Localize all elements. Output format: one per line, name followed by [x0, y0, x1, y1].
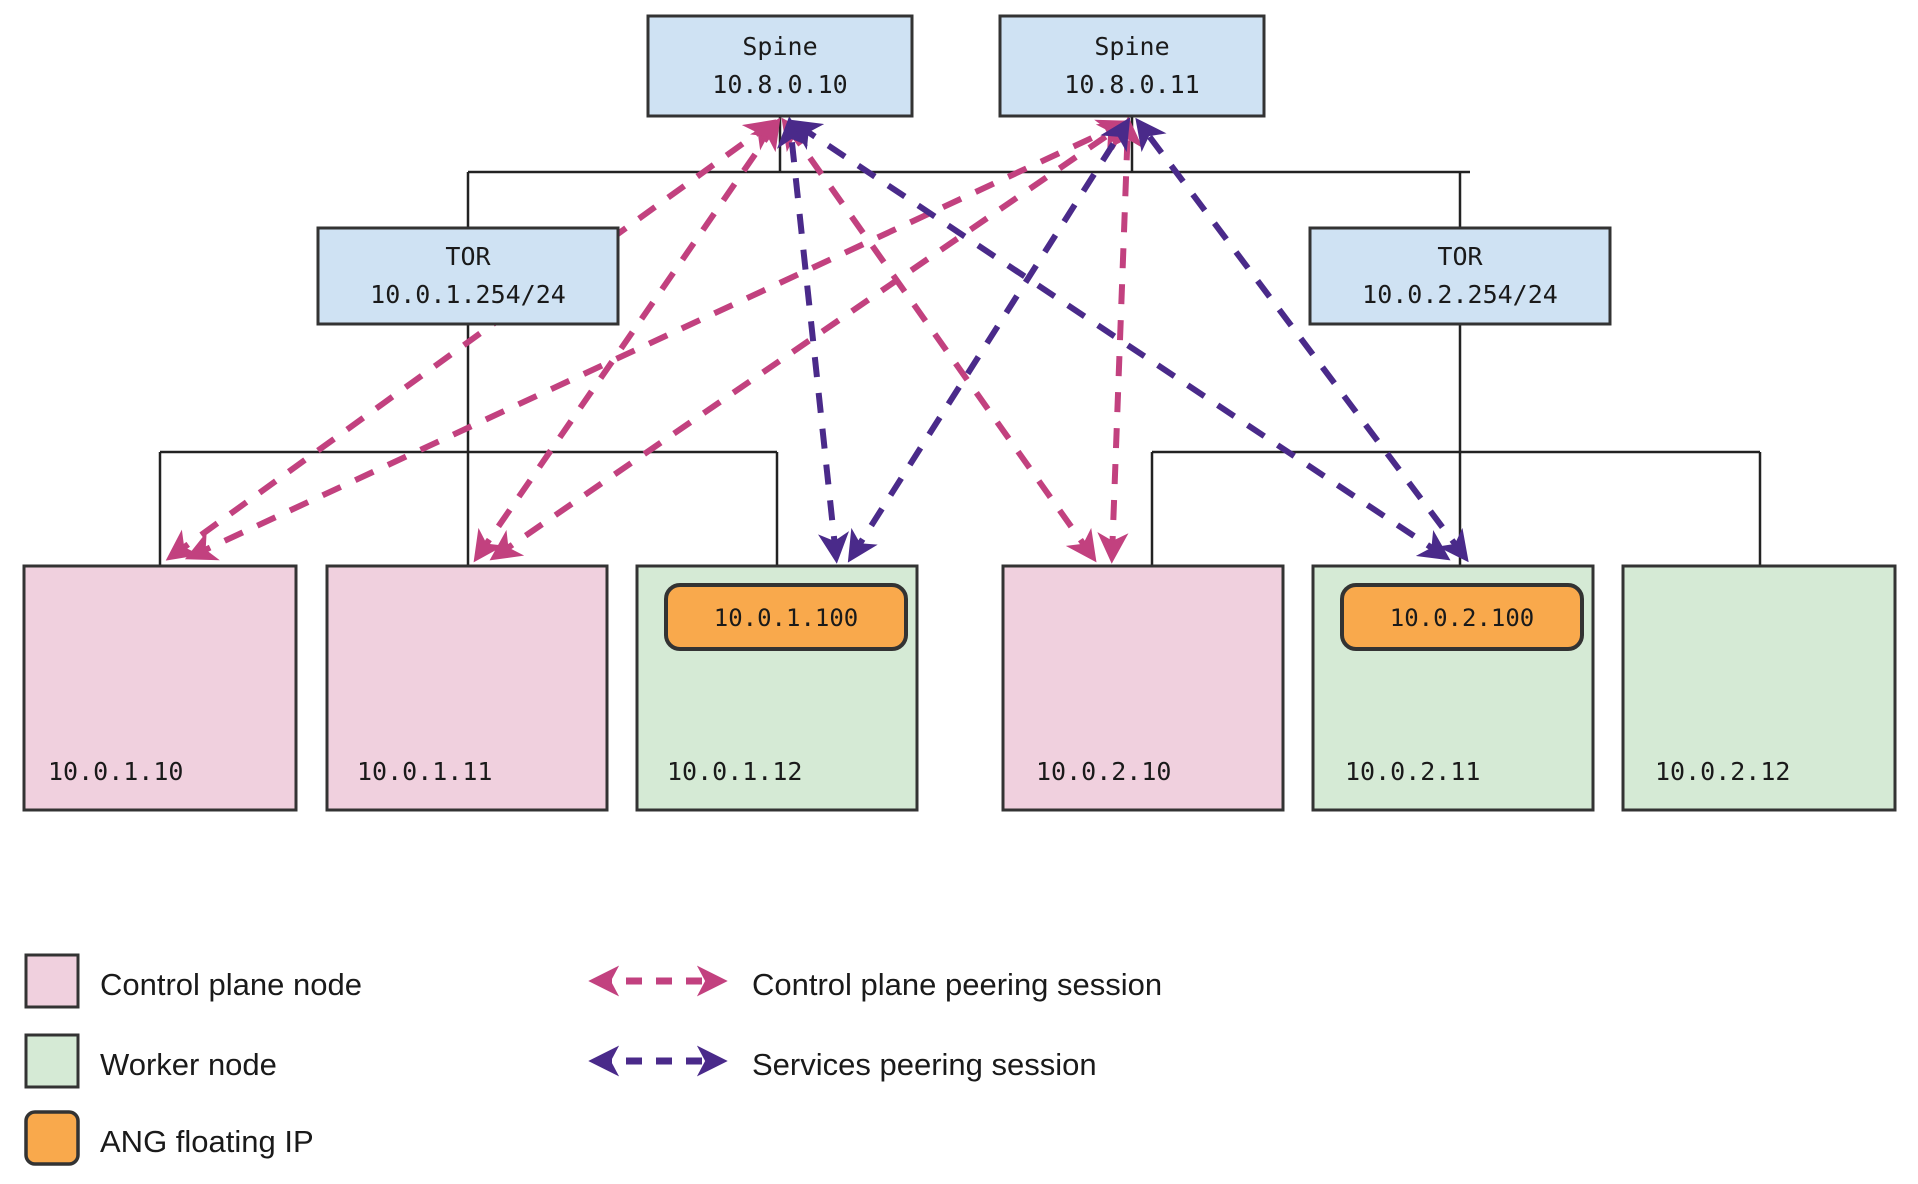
spine-1-box[interactable]	[648, 16, 912, 116]
tor-switch-tor-1[interactable]: TOR 10.0.1.254/24	[318, 228, 618, 324]
node-10-0-2-10[interactable]: 10.0.2.10	[1003, 566, 1283, 810]
legend-worker-label: Worker node	[100, 1047, 277, 1082]
cp-peer-spine2-node1	[192, 124, 1122, 556]
node-2-ip: 10.0.1.11	[357, 757, 492, 786]
spine-2-ip: 10.8.0.11	[1064, 70, 1199, 99]
node-10-0-1-10[interactable]: 10.0.1.10	[24, 566, 296, 810]
node-10-0-1-11[interactable]: 10.0.1.11	[327, 566, 607, 810]
network-topology-diagram: Spine 10.8.0.10 Spine 10.8.0.11 TOR 10.0…	[0, 0, 1918, 1184]
diagram-canvas: Spine 10.8.0.10 Spine 10.8.0.11 TOR 10.0…	[0, 0, 1918, 1184]
node-5-floating-ip: 10.0.2.100	[1390, 604, 1535, 632]
node-6-ip: 10.0.2.12	[1655, 757, 1790, 786]
cp-peer-spine2-node4	[1112, 124, 1128, 556]
tor-1-role: TOR	[445, 242, 491, 271]
spine-2-box[interactable]	[1000, 16, 1264, 116]
node-4-ip: 10.0.2.10	[1036, 757, 1171, 786]
legend-item-services-peering: Services peering session	[596, 1047, 1097, 1082]
cp-peer-spine1-node2	[478, 124, 776, 556]
spine-2-role: Spine	[1094, 32, 1169, 61]
legend-item-control-plane: Control plane node	[26, 955, 362, 1007]
node-10-0-2-11[interactable]: 10.0.2.100 10.0.2.11	[1313, 566, 1593, 810]
legend-cp-peering-label: Control plane peering session	[752, 967, 1162, 1002]
svc-peer-spine2-node5	[1140, 124, 1464, 556]
cp-peer-spine1-node4	[786, 124, 1092, 556]
physical-link-group	[160, 116, 1760, 566]
legend-ang-label: ANG floating IP	[100, 1124, 314, 1159]
spine-switch-spine-1[interactable]: Spine 10.8.0.10	[648, 16, 912, 116]
legend-item-control-plane-peering: Control plane peering session	[596, 967, 1162, 1002]
legend-ang-swatch	[26, 1112, 78, 1164]
tor-1-ip: 10.0.1.254/24	[370, 280, 566, 309]
legend-svc-peering-label: Services peering session	[752, 1047, 1097, 1082]
node-10-0-1-12[interactable]: 10.0.1.100 10.0.1.12	[637, 566, 917, 810]
spine-1-ip: 10.8.0.10	[712, 70, 847, 99]
legend-control-plane-label: Control plane node	[100, 967, 362, 1002]
node-10-0-2-12[interactable]: 10.0.2.12	[1623, 566, 1895, 810]
tor-2-ip: 10.0.2.254/24	[1362, 280, 1558, 309]
tor-switch-tor-2[interactable]: TOR 10.0.2.254/24	[1310, 228, 1610, 324]
tor-2-role: TOR	[1437, 242, 1483, 271]
node-1-ip: 10.0.1.10	[48, 757, 183, 786]
legend: Control plane node Worker node ANG float…	[26, 955, 1162, 1164]
spine-switch-spine-2[interactable]: Spine 10.8.0.11	[1000, 16, 1264, 116]
cp-peer-spine1-node1	[172, 124, 770, 556]
node-3-floating-ip: 10.0.1.100	[714, 604, 859, 632]
node-5-ip: 10.0.2.11	[1345, 757, 1480, 786]
legend-item-worker: Worker node	[26, 1035, 277, 1087]
control-plane-peering-group	[172, 124, 1128, 556]
legend-control-plane-swatch	[26, 955, 78, 1007]
node-3-ip: 10.0.1.12	[667, 757, 802, 786]
legend-worker-swatch	[26, 1035, 78, 1087]
legend-item-ang-floating-ip: ANG floating IP	[26, 1112, 314, 1164]
spine-1-role: Spine	[742, 32, 817, 61]
